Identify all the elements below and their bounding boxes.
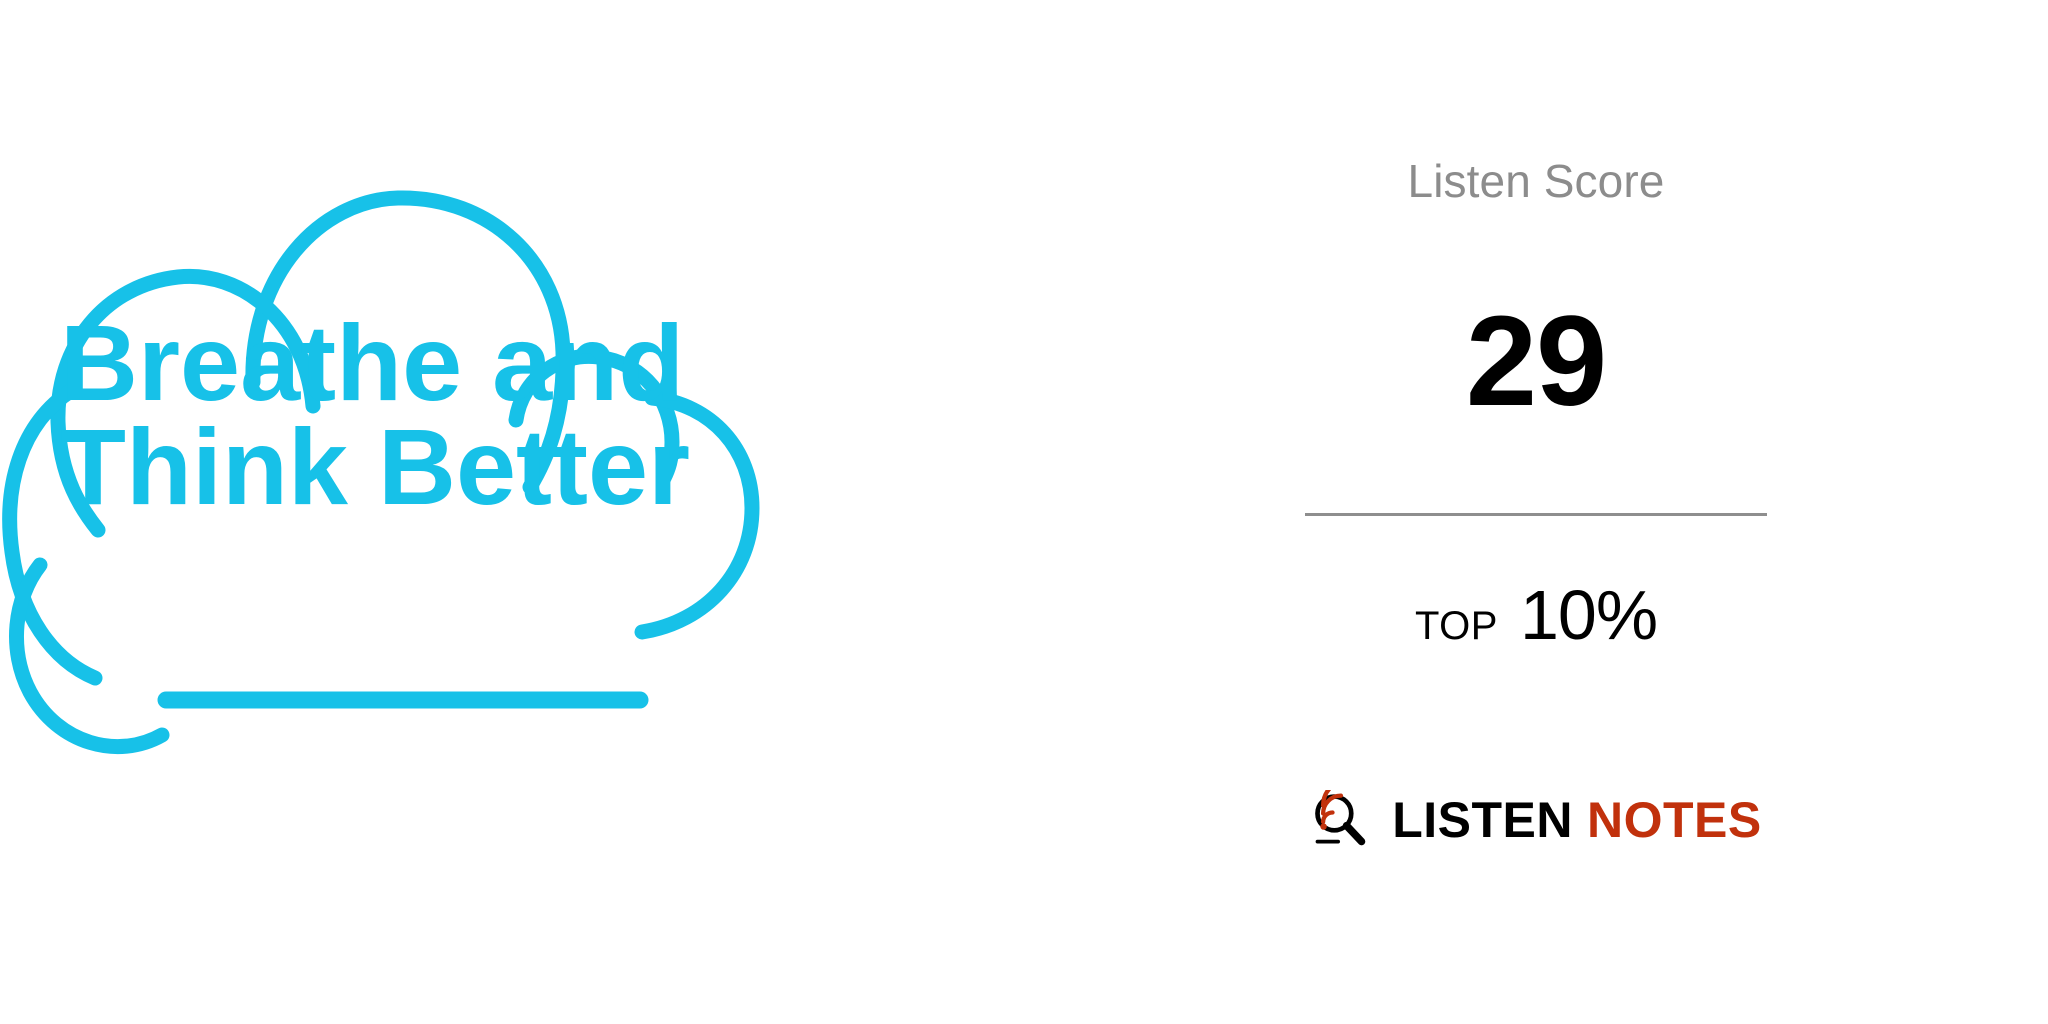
top-label: TOP — [1415, 604, 1498, 648]
top-percentile-row: TOP10% — [1024, 580, 2048, 650]
cover-title-line-2: Think Better — [60, 406, 690, 527]
cloud-logo-svg: Breathe and Think Better — [0, 0, 1024, 1024]
listen-score-label: Listen Score — [1024, 158, 2048, 204]
screenshot-canvas: Breathe and Think Better Listen Score 29… — [0, 0, 2048, 1024]
percentile-value: 10% — [1520, 576, 1657, 654]
listen-score-value: 29 — [1024, 298, 2048, 426]
cover-title-line-1: Breathe and — [60, 302, 684, 423]
listen-notes-magnifier-icon — [1310, 790, 1370, 850]
listen-notes-wordmark: LISTENNOTES — [1392, 795, 1762, 845]
cloud-arc-bottom-left — [17, 565, 162, 747]
brand-word-notes: NOTES — [1587, 792, 1762, 848]
score-divider — [1305, 513, 1767, 516]
listen-score-panel: Listen Score 29 TOP10% — [1024, 0, 2048, 1024]
brand-word-listen: LISTEN — [1392, 792, 1573, 848]
listen-notes-brand[interactable]: LISTENNOTES — [1024, 790, 2048, 850]
podcast-cover-art[interactable]: Breathe and Think Better — [0, 0, 1024, 1024]
